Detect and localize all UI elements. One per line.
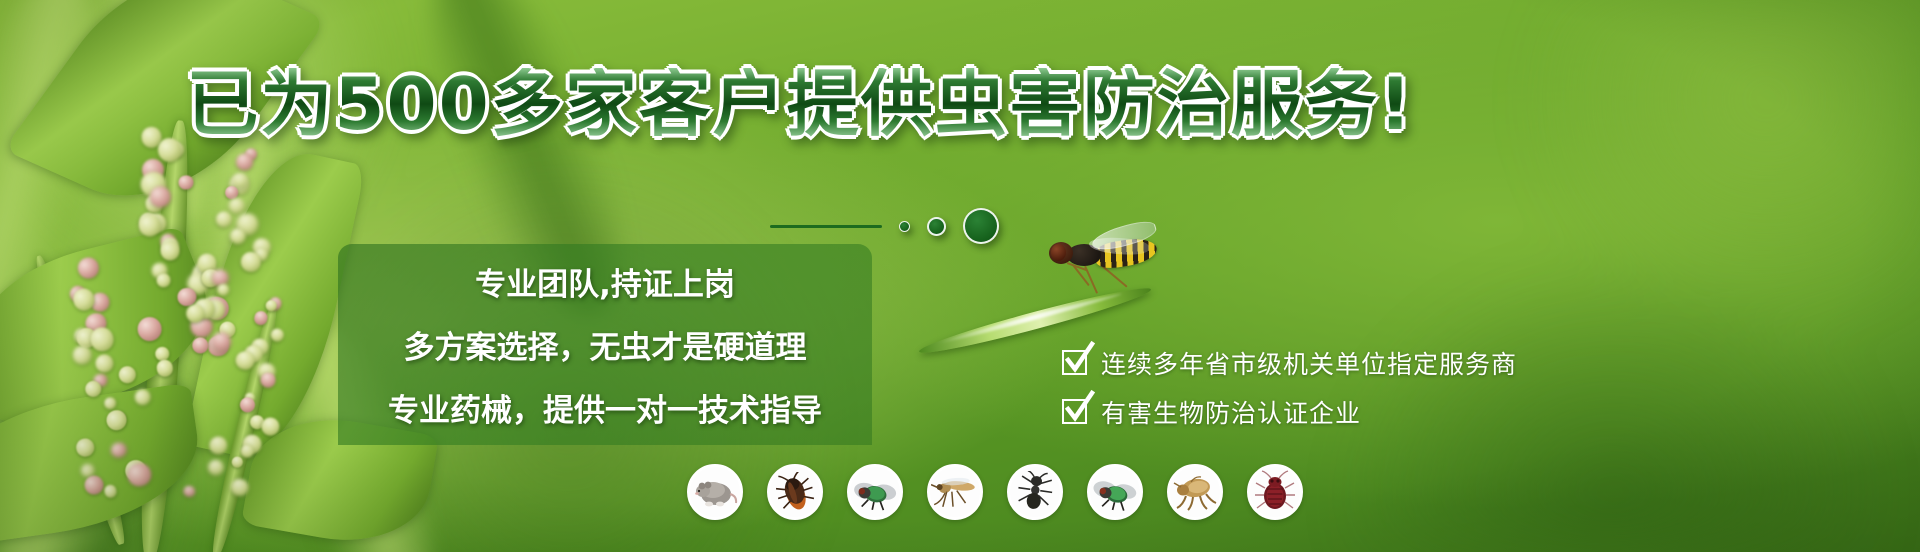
selling-point-line-2: 多方案选择，无虫才是硬道理 <box>364 313 846 376</box>
selling-point-line-1: 专业团队,持证上岗 <box>364 252 846 313</box>
checkbox-checked-icon <box>1062 399 1087 424</box>
cockroach-icon[interactable] <box>767 464 823 520</box>
selling-point-line-3: 专业药械，提供一对一技术指导 <box>364 376 846 432</box>
rat-icon[interactable] <box>687 464 743 520</box>
insect-eye <box>1051 244 1066 261</box>
divider-line <box>770 225 882 228</box>
page-title: 已为500多家客户提供虫害防治服务! <box>0 68 1600 140</box>
flea-icon[interactable] <box>1167 464 1223 520</box>
selling-points-panel: 专业团队,持证上岗 多方案选择，无虫才是硬道理 专业药械，提供一对一技术指导 <box>338 244 872 445</box>
promo-banner: 已为500多家客户提供虫害防治服务! 专业团队,持证上岗 多方案选择，无虫才是硬… <box>0 0 1920 552</box>
hoverfly-icon <box>1045 228 1165 286</box>
credential-item: 连续多年省市级机关单位指定服务商 <box>1062 338 1517 387</box>
pest-icon-row <box>687 464 1303 520</box>
bedbug-icon[interactable] <box>1247 464 1303 520</box>
mosquito-icon[interactable] <box>927 464 983 520</box>
fly-icon[interactable] <box>847 464 903 520</box>
credential-item: 有害生物防治认证企业 <box>1062 387 1517 436</box>
fly-green-icon[interactable] <box>1087 464 1143 520</box>
ant-icon[interactable] <box>1007 464 1063 520</box>
credential-label: 连续多年省市级机关单位指定服务商 <box>1101 345 1517 381</box>
credential-label: 有害生物防治认证企业 <box>1101 394 1361 430</box>
checkbox-checked-icon <box>1062 350 1087 375</box>
credentials-list: 连续多年省市级机关单位指定服务商 有害生物防治认证企业 <box>1062 338 1517 436</box>
